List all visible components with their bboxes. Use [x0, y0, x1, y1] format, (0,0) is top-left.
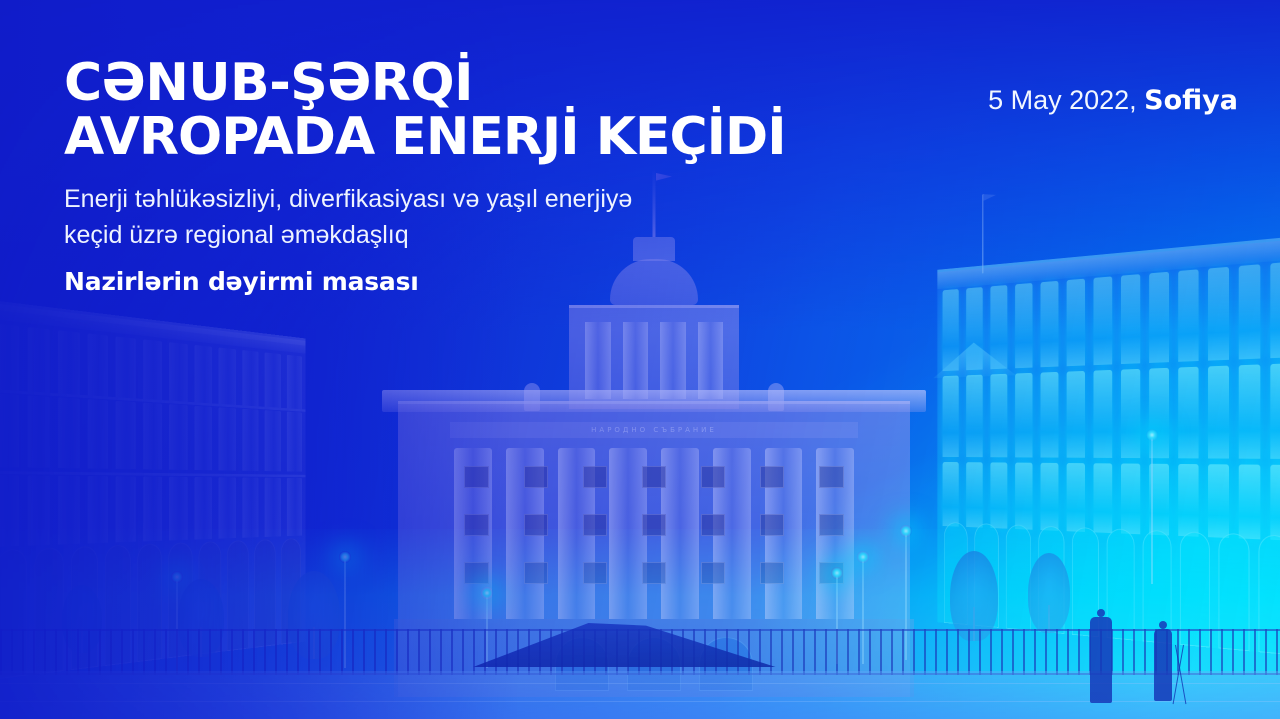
title-line-2: AVROPADA ENERJİ KEÇİDİ — [64, 110, 944, 164]
subtitle-line-1: Enerji təhlükəsizliyi, diverfikasiyası v… — [64, 182, 864, 218]
event-date-location: 5 May 2022, Sofiya — [988, 85, 1238, 116]
event-type-label: Nazirlərin dəyirmi masası — [64, 267, 944, 296]
poster-content: CƏNUB-ŞƏRQİ AVROPADA ENERJİ KEÇİDİ Enerj… — [0, 0, 1280, 719]
page-title: CƏNUB-ŞƏRQİ AVROPADA ENERJİ KEÇİDİ — [64, 56, 944, 164]
subtitle-line-2: keçid üzrə regional əməkdaşlıq — [64, 218, 864, 254]
event-date: 5 May 2022, — [988, 85, 1144, 115]
subtitle: Enerji təhlükəsizliyi, diverfikasiyası v… — [64, 182, 864, 253]
poster-banner: НАРОДНО СЪБРАНИЕ — [0, 0, 1280, 719]
title-line-1: CƏNUB-ŞƏRQİ — [64, 56, 944, 110]
title-block: CƏNUB-ŞƏRQİ AVROPADA ENERJİ KEÇİDİ Enerj… — [64, 56, 944, 296]
event-city: Sofiya — [1144, 85, 1238, 116]
